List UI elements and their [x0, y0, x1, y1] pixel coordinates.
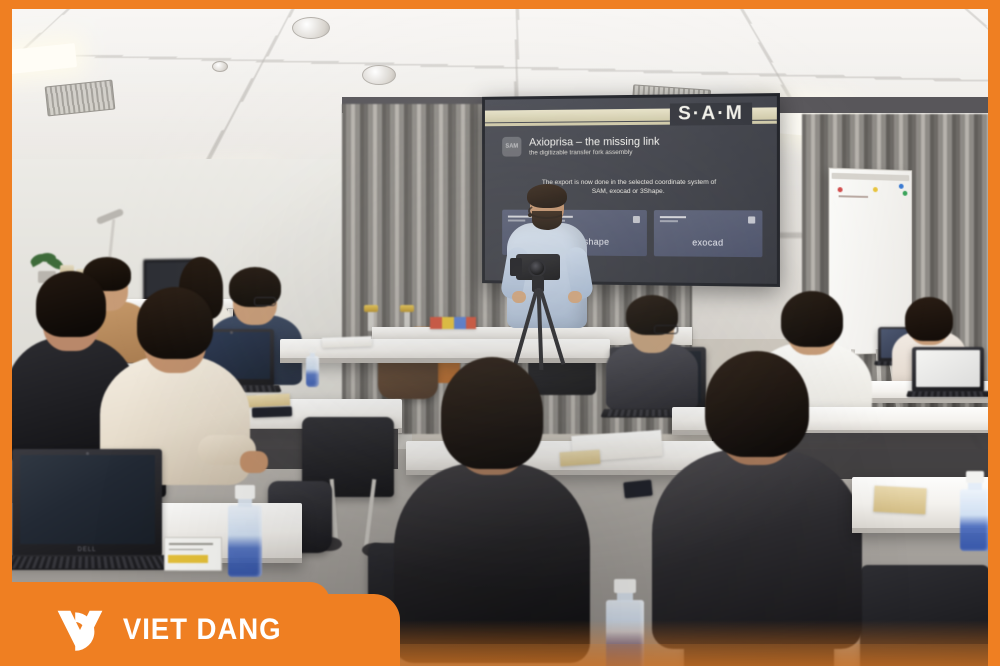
laptop-brand-label: DELL — [77, 547, 96, 553]
watermark: VIET DANG — [0, 578, 400, 666]
attendee-torso — [652, 449, 862, 649]
laptop-lid — [12, 449, 162, 555]
magnet-yellow — [873, 187, 878, 192]
water-bottle — [960, 471, 988, 551]
badge-line — [169, 549, 203, 551]
bottle-neck — [968, 482, 981, 490]
name-badge — [164, 537, 222, 571]
smartphone — [252, 406, 292, 417]
slide-badge-icon: SAM — [502, 137, 521, 157]
ceiling-speaker — [362, 65, 396, 85]
water-bottle — [306, 347, 319, 387]
attendee-center-front — [394, 357, 590, 657]
model-gold-part — [400, 305, 414, 312]
headset-microphone-icon — [528, 203, 566, 219]
card-brand-label: exocad — [654, 237, 763, 248]
flipchart-rail — [832, 173, 910, 181]
eyeglasses-icon — [254, 297, 276, 306]
bottle-neck — [310, 353, 316, 357]
sam-brand-logo: S·A·M — [670, 103, 752, 126]
slide-subtitle: the digitizable transfer fork assembly — [529, 148, 659, 158]
attendee-hair — [137, 287, 213, 359]
magnet-red — [838, 187, 843, 192]
camera-lens-icon — [528, 259, 546, 277]
attendee-dark-suit-front — [652, 351, 862, 651]
slide-header: SAM Axioprisa – the missing link the dig… — [502, 136, 659, 158]
attendee-hair — [36, 271, 106, 337]
laptop-screen — [20, 455, 155, 544]
bottle-cap — [309, 347, 317, 353]
laptop-screen — [916, 350, 981, 387]
watermark-brand-text: VIET DANG — [123, 613, 282, 647]
laptop-webcam-icon — [86, 452, 89, 455]
photo-canvas: S·A·M SAM Axioprisa – the missing link t… — [0, 0, 1000, 666]
magnet-blue — [899, 184, 904, 189]
card-square-icon — [633, 216, 640, 223]
attendee-torso — [394, 463, 590, 663]
bottle-neck — [617, 592, 634, 602]
notepad — [322, 336, 372, 348]
watermark-content: VIET DANG — [0, 594, 300, 666]
smoke-detector — [292, 17, 330, 39]
headset-mic-capsule — [528, 213, 532, 217]
front-laptop: DELL — [12, 449, 162, 555]
slide-card-exocad: exocad — [654, 210, 763, 257]
colored-boxes — [430, 317, 476, 329]
badge-line — [169, 543, 213, 545]
bottle-neck — [238, 498, 253, 507]
manila-folder — [873, 486, 926, 515]
card-square-icon — [748, 216, 755, 223]
flipchart-writing — [839, 195, 868, 198]
bottle-body — [306, 356, 319, 387]
bottle-body — [228, 505, 262, 577]
bottle-body — [960, 489, 988, 551]
eyeglasses-icon — [654, 325, 678, 334]
tripod-leg — [513, 289, 538, 365]
water-bottle — [228, 485, 262, 577]
frame-border-left — [0, 0, 12, 666]
attendee-hair — [441, 357, 543, 469]
card-text-lines — [660, 216, 686, 222]
attendee-hand — [240, 451, 268, 473]
smartphone — [623, 480, 653, 499]
laptop-keyboard-base — [12, 555, 181, 570]
frame-border-right — [988, 0, 1000, 666]
camera-grip — [510, 258, 522, 276]
laptop-keys — [12, 556, 169, 568]
bottle-cap — [235, 485, 255, 499]
attendee-hair — [905, 297, 953, 341]
bottle-cap — [966, 471, 984, 483]
presenter-hand-right — [568, 291, 582, 303]
attendee-hair — [705, 351, 809, 457]
attendee-hair — [781, 291, 843, 347]
magnet-green — [903, 191, 908, 196]
laptop-lid — [912, 347, 984, 391]
camera-tripod — [508, 254, 568, 364]
model-gold-part — [364, 305, 378, 312]
slide-title: Axioprisa – the missing link — [529, 136, 659, 149]
seminar-room-scene: S·A·M SAM Axioprisa – the missing link t… — [12, 9, 988, 666]
smoke-detector — [212, 61, 228, 72]
frame-border-top — [0, 0, 1000, 9]
badge-highlight — [168, 555, 207, 563]
bottle-cap — [614, 579, 637, 593]
attendee-laptop — [912, 347, 984, 391]
vd-monogram-icon — [56, 606, 104, 654]
